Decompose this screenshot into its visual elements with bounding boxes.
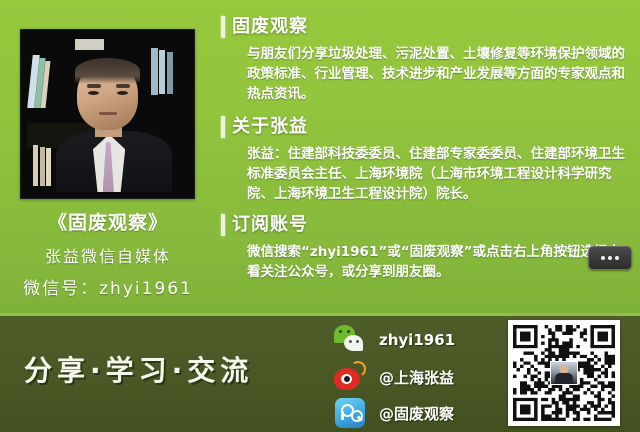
profile-column: 《固废观察》 张益微信自媒体 微信号：zhyi1961 xyxy=(0,0,216,313)
more-options-button[interactable] xyxy=(588,246,632,270)
section-accent-bar xyxy=(221,116,225,138)
section-header: 订阅账号 xyxy=(216,212,640,242)
person-hair xyxy=(75,58,139,85)
section-body: 张益：住建部科技委委员、住建部专家委委员、住建部环境卫生标准委员会主任、上海环境… xyxy=(247,144,634,204)
qr-center-avatar xyxy=(550,361,578,385)
social-label: @上海张益 xyxy=(379,367,454,388)
section-heading: 关于张益 xyxy=(232,112,308,138)
social-row-weibo[interactable]: @上海张益 xyxy=(333,359,503,395)
bookshelf-book xyxy=(151,48,158,95)
wechat-icon xyxy=(333,323,367,357)
weibo-icon xyxy=(333,360,367,394)
section-about-column: 固废观察 与朋友们分享垃圾处理、污泥处置、土壤修复等环境保护领域的政策标准、行业… xyxy=(216,14,640,104)
section-header: 固废观察 xyxy=(216,14,640,44)
person-eye xyxy=(117,91,128,95)
section-accent-bar xyxy=(221,214,225,236)
section-header: 关于张益 xyxy=(216,114,640,144)
wechat-dot xyxy=(347,330,350,333)
bookshelf-book xyxy=(159,50,165,94)
qr-avatar-body xyxy=(555,373,573,384)
section-heading: 订阅账号 xyxy=(232,210,308,236)
bookshelf-book xyxy=(33,145,38,186)
social-row-search[interactable]: @固废观察 xyxy=(333,395,503,431)
person-mouth xyxy=(99,112,117,115)
search-letter-p-stem xyxy=(341,411,344,420)
wechat-qr-code[interactable] xyxy=(508,320,620,426)
section-accent-bar xyxy=(221,16,225,38)
social-row-wechat[interactable]: zhyi1961 xyxy=(333,322,503,358)
wechat-dot xyxy=(356,340,359,343)
weibo-pupil-core xyxy=(344,376,350,382)
wechat-id-text: 微信号：zhyi1961 xyxy=(0,274,216,299)
wechat-dot xyxy=(339,330,342,333)
section-body: 微信搜索“zhyi1961”或“固废观察”或点击右上角按钮选择查看关注公众号，或… xyxy=(247,242,634,282)
section-subscribe: 订阅账号 微信搜索“zhyi1961”或“固废观察”或点击右上角按钮选择查看关注… xyxy=(216,212,640,282)
wechat-bubble-small xyxy=(344,335,363,351)
search-icon xyxy=(333,396,367,430)
social-links: zhyi1961 @上海张益 @固废观 xyxy=(333,319,503,432)
ellipsis-dot-icon xyxy=(615,256,619,260)
banner-slogan: 分享·学习·交流 xyxy=(24,349,253,389)
ellipsis-dot-icon xyxy=(601,256,605,260)
section-about-author: 关于张益 张益：住建部科技委委员、住建部专家委委员、住建部环境卫生标准委员会主任… xyxy=(216,114,640,204)
ellipsis-dot-icon xyxy=(608,256,612,260)
info-column: 固废观察 与朋友们分享垃圾处理、污泥处置、土壤修复等环境保护领域的政策标准、行业… xyxy=(216,0,640,313)
qr-modules xyxy=(513,325,615,421)
portrait-photo-frame xyxy=(20,29,195,199)
account-subtitle: 张益微信自媒体 xyxy=(0,243,216,267)
bookshelf-book xyxy=(40,147,45,186)
person-eyebrow xyxy=(87,84,101,88)
wechat-dot xyxy=(349,340,352,343)
portrait-photo xyxy=(27,36,188,192)
bookshelf-book xyxy=(167,52,173,94)
wechat-public-account-card: 《固废观察》 张益微信自媒体 微信号：zhyi1961 固废观察 与朋友们分享垃… xyxy=(0,0,640,432)
background-sign xyxy=(75,39,104,50)
social-label: zhyi1961 xyxy=(379,331,455,349)
person-eyebrow xyxy=(116,84,130,88)
section-heading: 固废观察 xyxy=(232,12,308,38)
social-label: @固废观察 xyxy=(379,403,454,424)
bookshelf-book xyxy=(46,148,51,185)
account-title: 《固废观察》 xyxy=(0,208,216,235)
person-eye xyxy=(88,91,99,95)
section-body: 与朋友们分享垃圾处理、污泥处置、土壤修复等环境保护领域的政策标准、行业管理、技术… xyxy=(247,44,634,104)
